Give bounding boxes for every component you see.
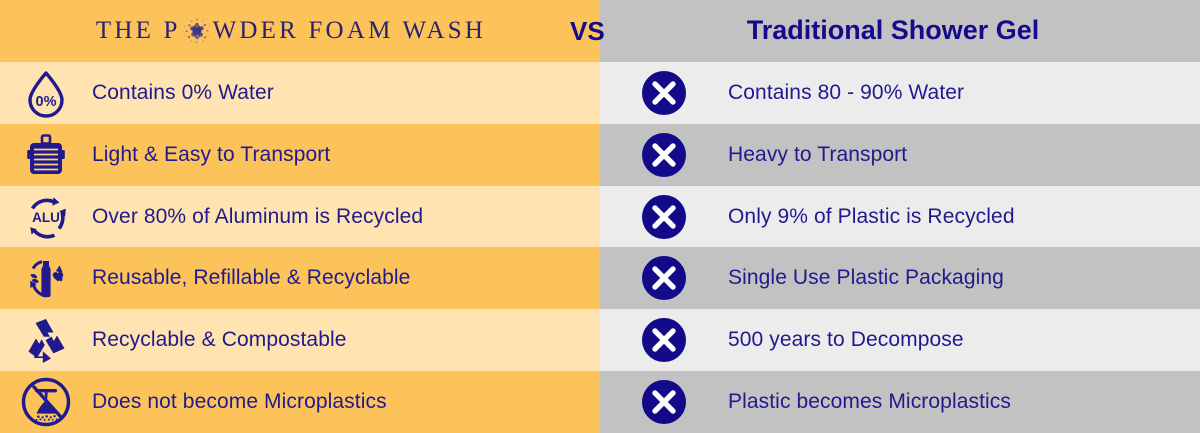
row-product-text: Over 80% of Aluminum is Recycled bbox=[92, 205, 423, 229]
row-competitor-text: Only 9% of Plastic is Recycled bbox=[728, 205, 1015, 229]
table-row: ALU Over 80% of Aluminum is Recycled Onl… bbox=[0, 186, 1200, 248]
x-circle-icon bbox=[600, 70, 728, 116]
row-cell-competitor: Plastic becomes Microplastics bbox=[600, 371, 1200, 433]
row-cell-product: Light & Easy to Transport bbox=[0, 124, 600, 186]
no-microplastics-icon bbox=[0, 376, 92, 428]
comparison-table: THE P bbox=[0, 0, 1200, 433]
svg-text:0%: 0% bbox=[36, 94, 57, 110]
row-competitor-text: Single Use Plastic Packaging bbox=[728, 266, 1004, 290]
row-cell-product: 0% Contains 0% Water bbox=[0, 62, 600, 124]
row-product-text: Contains 0% Water bbox=[92, 81, 274, 105]
x-circle-icon bbox=[600, 317, 728, 363]
x-circle-icon bbox=[600, 194, 728, 240]
table-row: Reusable, Refillable & Recyclable Single… bbox=[0, 247, 1200, 309]
competitor-title: Traditional Shower Gel bbox=[600, 15, 1200, 46]
x-circle-icon bbox=[600, 132, 728, 178]
x-circle-icon bbox=[600, 255, 728, 301]
table-row: Recyclable & Compostable 500 years to De… bbox=[0, 309, 1200, 371]
row-cell-competitor: Only 9% of Plastic is Recycled bbox=[600, 186, 1200, 248]
header-cell-brand: THE P bbox=[0, 0, 600, 62]
row-cell-product: Recyclable & Compostable bbox=[0, 309, 600, 371]
brand-logo-text: THE P bbox=[96, 16, 486, 46]
row-cell-product: ALU Over 80% of Aluminum is Recycled bbox=[0, 186, 600, 248]
row-competitor-text: Contains 80 - 90% Water bbox=[728, 81, 964, 105]
row-product-text: Light & Easy to Transport bbox=[92, 143, 330, 167]
row-product-text: Recyclable & Compostable bbox=[92, 328, 347, 352]
row-product-text: Reusable, Refillable & Recyclable bbox=[92, 266, 410, 290]
row-competitor-text: Heavy to Transport bbox=[728, 143, 907, 167]
row-cell-competitor: 500 years to Decompose bbox=[600, 309, 1200, 371]
table-row: 0% Contains 0% Water Contains 80 - 90% W… bbox=[0, 62, 1200, 124]
row-competitor-text: Plastic becomes Microplastics bbox=[728, 390, 1011, 414]
table-row: Light & Easy to Transport Heavy to Trans… bbox=[0, 124, 1200, 186]
aluminum-icon-label: ALU bbox=[32, 210, 60, 225]
vs-label: VS bbox=[570, 0, 605, 62]
header-cell-competitor: Traditional Shower Gel bbox=[600, 0, 1200, 62]
row-cell-competitor: Single Use Plastic Packaging bbox=[600, 247, 1200, 309]
brand-logo-text-part2: WDER FOAM WASH bbox=[213, 17, 487, 45]
row-competitor-text: 500 years to Decompose bbox=[728, 328, 964, 352]
x-circle-icon bbox=[600, 379, 728, 425]
powder-burst-icon bbox=[182, 16, 212, 46]
aluminum-recycle-icon: ALU bbox=[0, 192, 92, 242]
suitcase-icon bbox=[0, 130, 92, 180]
table-row: Does not become Microplastics Plastic be… bbox=[0, 371, 1200, 433]
water-drop-zero-percent-icon: 0% bbox=[0, 68, 92, 118]
brand-logo: THE P bbox=[0, 16, 600, 46]
table-header-row: THE P bbox=[0, 0, 1200, 62]
refillable-bottle-icon bbox=[0, 253, 92, 303]
recycling-triangle-icon bbox=[0, 315, 92, 365]
row-product-text: Does not become Microplastics bbox=[92, 390, 387, 414]
row-cell-product: Does not become Microplastics bbox=[0, 371, 600, 433]
row-cell-competitor: Heavy to Transport bbox=[600, 124, 1200, 186]
row-cell-competitor: Contains 80 - 90% Water bbox=[600, 62, 1200, 124]
row-cell-product: Reusable, Refillable & Recyclable bbox=[0, 247, 600, 309]
brand-logo-text-part1: THE P bbox=[96, 17, 181, 45]
